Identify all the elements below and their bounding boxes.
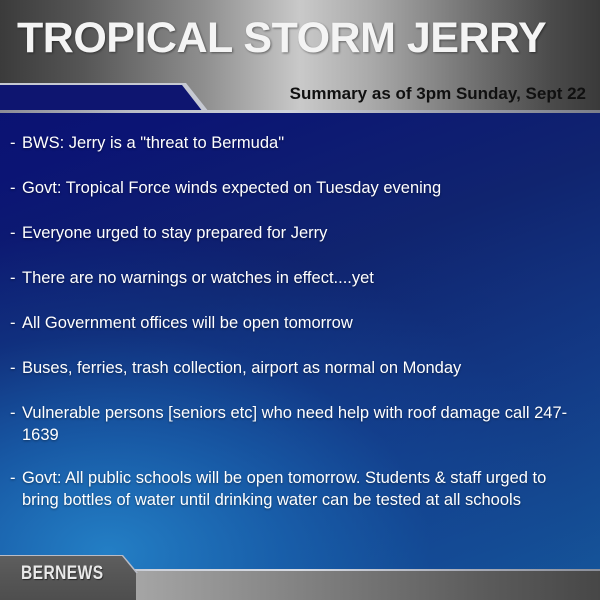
bullet-dash: - [10,132,16,154]
storm-summary-graphic: TROPICAL STORM JERRY Summary as of 3pm S… [0,0,600,600]
list-item-text: Govt: All public schools will be open to… [22,469,546,509]
list-item-text: There are no warnings or watches in effe… [22,269,374,287]
summary-timestamp: Summary as of 3pm Sunday, Sept 22 [290,84,586,104]
list-item: - Govt: Tropical Force winds expected on… [0,177,600,199]
list-item: - There are no warnings or watches in ef… [0,267,600,289]
list-item: - All Government offices will be open to… [0,312,600,334]
list-item: - Buses, ferries, trash collection, airp… [0,357,600,379]
list-item-text: Everyone urged to stay prepared for Jerr… [22,224,327,242]
bullet-dash: - [10,402,16,424]
header-underline [0,110,600,113]
list-item: - Everyone urged to stay prepared for Je… [0,222,600,244]
list-item: - Govt: All public schools will be open … [0,467,600,511]
list-item-text: Vulnerable persons [seniors etc] who nee… [22,404,567,444]
list-item-text: Govt: Tropical Force winds expected on T… [22,179,441,197]
bullet-dash: - [10,177,16,199]
list-item: - BWS: Jerry is a "threat to Bermuda" [0,132,600,154]
bullet-dash: - [10,312,16,334]
bernews-logo: BERNEWS [21,563,104,585]
bullet-dash: - [10,222,16,244]
bullet-dash: - [10,467,16,489]
bullet-dash: - [10,357,16,379]
list-item: - Vulnerable persons [seniors etc] who n… [0,402,600,446]
list-item-text: BWS: Jerry is a "threat to Bermuda" [22,134,284,152]
page-title: TROPICAL STORM JERRY [17,14,546,63]
list-item-text: Buses, ferries, trash collection, airpor… [22,359,461,377]
bullet-list: - BWS: Jerry is a "threat to Bermuda" - … [0,132,600,532]
bullet-dash: - [10,267,16,289]
list-item-text: All Government offices will be open tomo… [22,314,353,332]
